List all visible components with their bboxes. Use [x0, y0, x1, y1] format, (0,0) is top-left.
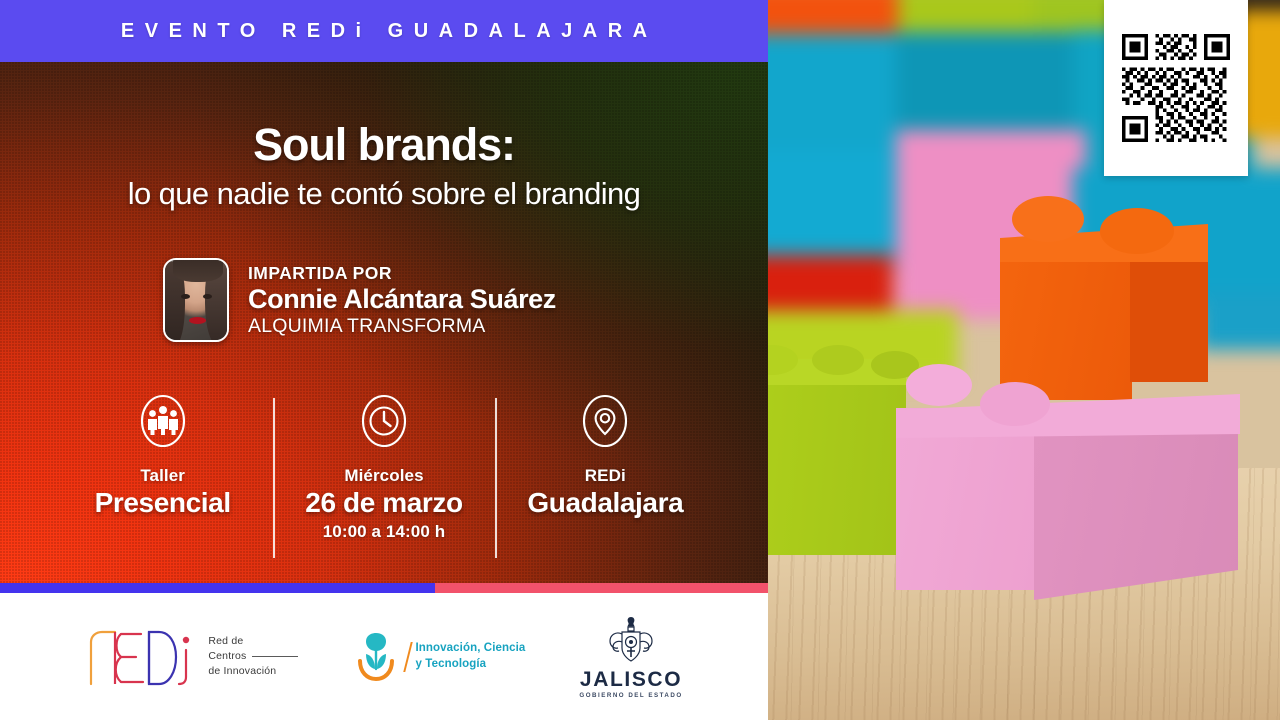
jalisco-logo: JALISCO GOBIERNO DEL ESTADO — [579, 615, 682, 699]
redi-caption-line1: Red de — [208, 634, 297, 649]
speaker-organization: ALQUIMIA TRANSFORMA — [248, 315, 556, 338]
lego-bricks-photo — [768, 0, 1280, 720]
info-columns: Taller Presencial Miércoles 26 de — [52, 392, 716, 577]
redi-wordmark-icon — [85, 626, 197, 688]
green-lego-brick — [768, 345, 906, 555]
ict-text: Innovación, Ciencia y Tecnología — [416, 641, 526, 672]
clock-icon — [359, 392, 409, 450]
info-big-label: 26 de marzo — [305, 487, 462, 518]
info-small-label: Taller — [140, 466, 185, 486]
page-title: Soul brands: — [0, 122, 768, 168]
poster-artwork-background: Soul brands: lo que nadie te contó sobre… — [0, 62, 768, 583]
event-banner-text: EVENTO REDi GUADALAJARA — [110, 20, 657, 43]
qr-code — [1122, 34, 1230, 142]
pink-lego-brick — [896, 360, 1236, 620]
redi-caption-line3: de Innovación — [208, 664, 297, 679]
accent-bar-blue — [0, 583, 435, 593]
redi-caption-line2: Centros — [208, 650, 246, 662]
info-time-label: 10:00 a 14:00 h — [323, 522, 445, 542]
ict-line1: Innovación, Ciencia — [416, 641, 526, 657]
info-column-modality: Taller Presencial — [52, 392, 273, 577]
info-small-label: REDi — [585, 466, 626, 486]
ict-divider — [403, 642, 412, 672]
event-banner: EVENTO REDi GUADALAJARA — [0, 0, 768, 62]
jalisco-wordmark: JALISCO — [580, 669, 682, 690]
event-poster-screen: EVENTO REDi GUADALAJARA Soul brands: lo … — [0, 0, 1280, 720]
location-pin-icon — [580, 392, 630, 450]
footer-logo-strip: Red de Centros de Innovación Innovación,… — [0, 593, 768, 720]
avatar — [163, 258, 229, 342]
ict-line2: y Tecnología — [416, 657, 526, 673]
page-subtitle: lo que nadie te contó sobre el branding — [0, 177, 768, 211]
flower-mark-icon — [352, 629, 400, 685]
info-big-label: Presencial — [95, 487, 231, 518]
jalisco-tagline: GOBIERNO DEL ESTADO — [579, 692, 682, 699]
jalisco-crest-icon — [600, 615, 662, 667]
qr-code-card[interactable] — [1104, 0, 1248, 176]
redi-logo: Red de Centros de Innovación — [85, 626, 297, 688]
speaker-kicker: IMPARTIDA POR — [248, 263, 556, 284]
poster-panel: EVENTO REDi GUADALAJARA Soul brands: lo … — [0, 0, 768, 720]
speaker-block: IMPARTIDA POR Connie Alcántara Suárez AL… — [163, 258, 556, 342]
innovacion-ciencia-tecnologia-logo: Innovación, Ciencia y Tecnología — [352, 629, 526, 685]
speaker-name: Connie Alcántara Suárez — [248, 284, 556, 315]
info-small-label: Miércoles — [344, 466, 423, 486]
info-column-date: Miércoles 26 de marzo 10:00 a 14:00 h — [273, 392, 494, 577]
accent-bar-pink — [435, 583, 768, 593]
info-column-location: REDi Guadalajara — [495, 392, 716, 577]
title-block: Soul brands: lo que nadie te contó sobre… — [0, 122, 768, 211]
info-big-label: Guadalajara — [527, 487, 683, 518]
redi-caption: Red de Centros de Innovación — [208, 634, 297, 680]
people-icon — [138, 392, 188, 450]
accent-bar — [0, 583, 768, 593]
